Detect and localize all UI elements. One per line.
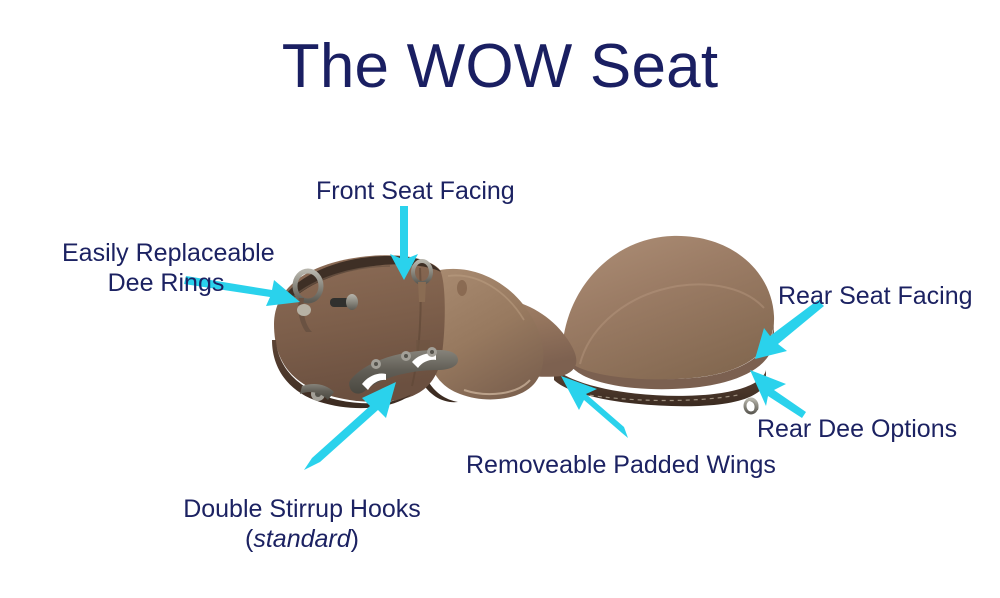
rear-dee-ring [745,398,759,413]
callout-label-stirrup-hooks: Double Stirrup Hooks (standard) [160,494,444,554]
callout-label-front-seat-facing: Front Seat Facing [316,176,515,206]
slide-canvas: The WOW Seat [0,0,1000,598]
page-title: The WOW Seat [0,36,1000,98]
paren-close: ) [351,525,359,553]
rear-seat-pad [562,236,774,389]
callout-label-stirrup-hooks-line1: Double Stirrup Hooks [160,494,444,524]
callout-label-rear-dee-options: Rear Dee Options [757,414,957,444]
callout-label-dee-rings-line1: Easily Replaceable [62,238,270,268]
callout-label-padded-wings: Removeable Padded Wings [466,450,776,480]
standard-emphasis: standard [253,525,350,553]
padded-wing [428,269,543,400]
callout-label-rear-seat-facing: Rear Seat Facing [778,281,973,311]
callout-label-dee-rings: Easily Replaceable Dee Rings [62,238,270,298]
callout-label-stirrup-hooks-line2: (standard) [160,524,444,554]
callout-label-dee-rings-line2: Dee Rings [62,268,270,298]
saddle-product-image [262,228,792,410]
